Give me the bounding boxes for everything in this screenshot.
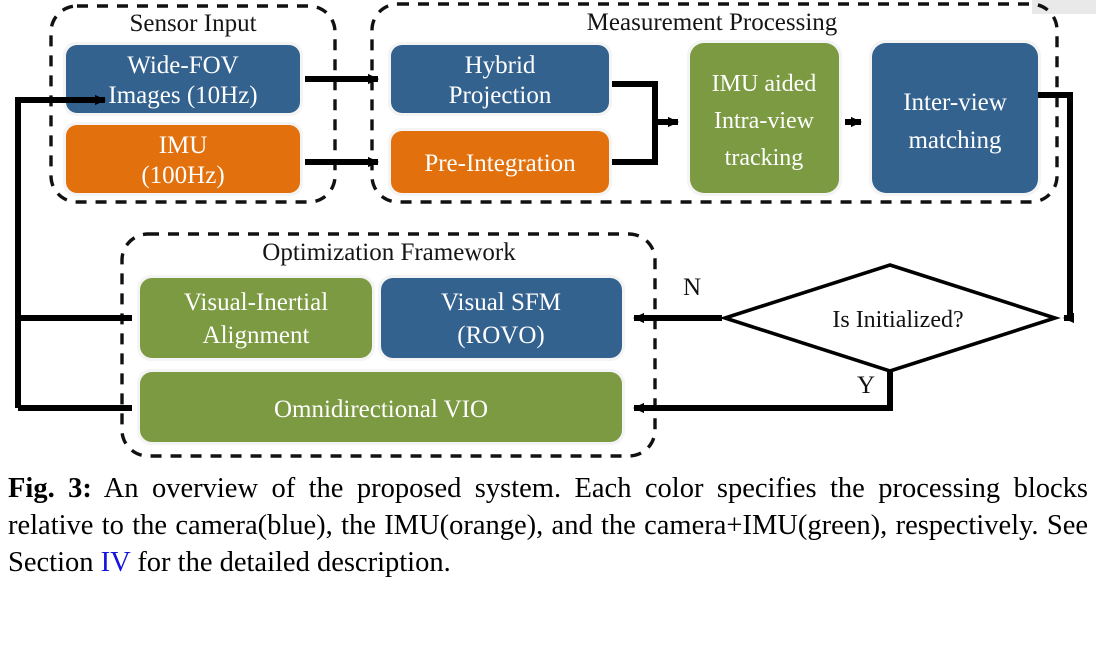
block-visual-inertial-alignment[interactable]: Visual-Inertial Alignment [137, 275, 375, 361]
figure-caption-text-after-ref: for the detailed description. [130, 547, 451, 578]
block-imu[interactable]: IMU (100Hz) [63, 122, 303, 196]
block-imu-aided-intra-view-tracking-line3: tracking [725, 145, 804, 171]
block-wide-fov-images[interactable]: Wide-FOV Images (10Hz) [63, 42, 303, 116]
block-hybrid-projection[interactable]: Hybrid Projection [388, 42, 612, 116]
block-visual-sfm-rovo-line2: (ROVO) [457, 322, 545, 349]
system-overview-figure: Sensor Input Wide-FOV Images (10Hz) IMU … [0, 0, 1096, 462]
block-imu-aided-intra-view-tracking[interactable]: IMU aided Intra-view tracking [687, 40, 842, 196]
group-sensor-input-label: Sensor Input [129, 10, 256, 37]
block-imu-line1: IMU [159, 132, 208, 159]
group-optimization-framework-label: Optimization Framework [262, 239, 516, 266]
decision-is-initialized[interactable]: Is Initialized? [725, 265, 1055, 371]
block-inter-view-matching-line1: Inter-view [903, 89, 1007, 116]
block-imu-aided-intra-view-tracking-line2: Intra-view [714, 108, 815, 134]
block-imu-line2: (100Hz) [141, 162, 224, 189]
decision-branch-yes-label: Y [857, 372, 875, 399]
figure-caption-section-reference[interactable]: IV [101, 547, 131, 578]
figure-caption: Fig. 3: An overview of the proposed syst… [8, 470, 1088, 581]
block-inter-view-matching-body [872, 43, 1038, 193]
block-inter-view-matching[interactable]: Inter-view matching [869, 40, 1041, 196]
block-pre-integration[interactable]: Pre-Integration [388, 128, 612, 196]
block-inter-view-matching-line2: matching [908, 127, 1002, 154]
block-imu-aided-intra-view-tracking-line1: IMU aided [712, 71, 817, 97]
block-visual-sfm-rovo-line1: Visual SFM [441, 289, 561, 316]
connector-decision-yes-to-omnidirectional-vio [634, 371, 890, 408]
block-wide-fov-images-line2: Images (10Hz) [108, 82, 257, 109]
decision-is-initialized-label: Is Initialized? [832, 307, 963, 333]
block-hybrid-projection-line1: Hybrid [465, 52, 536, 79]
block-hybrid-projection-line2: Projection [449, 82, 552, 109]
figure-caption-number: Fig. 3: [8, 473, 92, 504]
block-wide-fov-images-line1: Wide-FOV [127, 52, 238, 79]
group-measurement-processing-label: Measurement Processing [587, 9, 838, 36]
decision-branch-no-label: N [683, 274, 701, 301]
block-omnidirectional-vio-line1: Omnidirectional VIO [274, 396, 488, 423]
block-visual-sfm-rovo[interactable]: Visual SFM (ROVO) [378, 275, 625, 361]
block-visual-inertial-alignment-line2: Alignment [203, 322, 310, 349]
block-omnidirectional-vio[interactable]: Omnidirectional VIO [137, 369, 625, 445]
connector-inter-view-matching-to-decision [1038, 95, 1070, 318]
block-visual-inertial-alignment-line1: Visual-Inertial [184, 289, 328, 316]
block-pre-integration-line1: Pre-Integration [424, 150, 576, 177]
connector-merge-projection-integration [612, 84, 655, 162]
